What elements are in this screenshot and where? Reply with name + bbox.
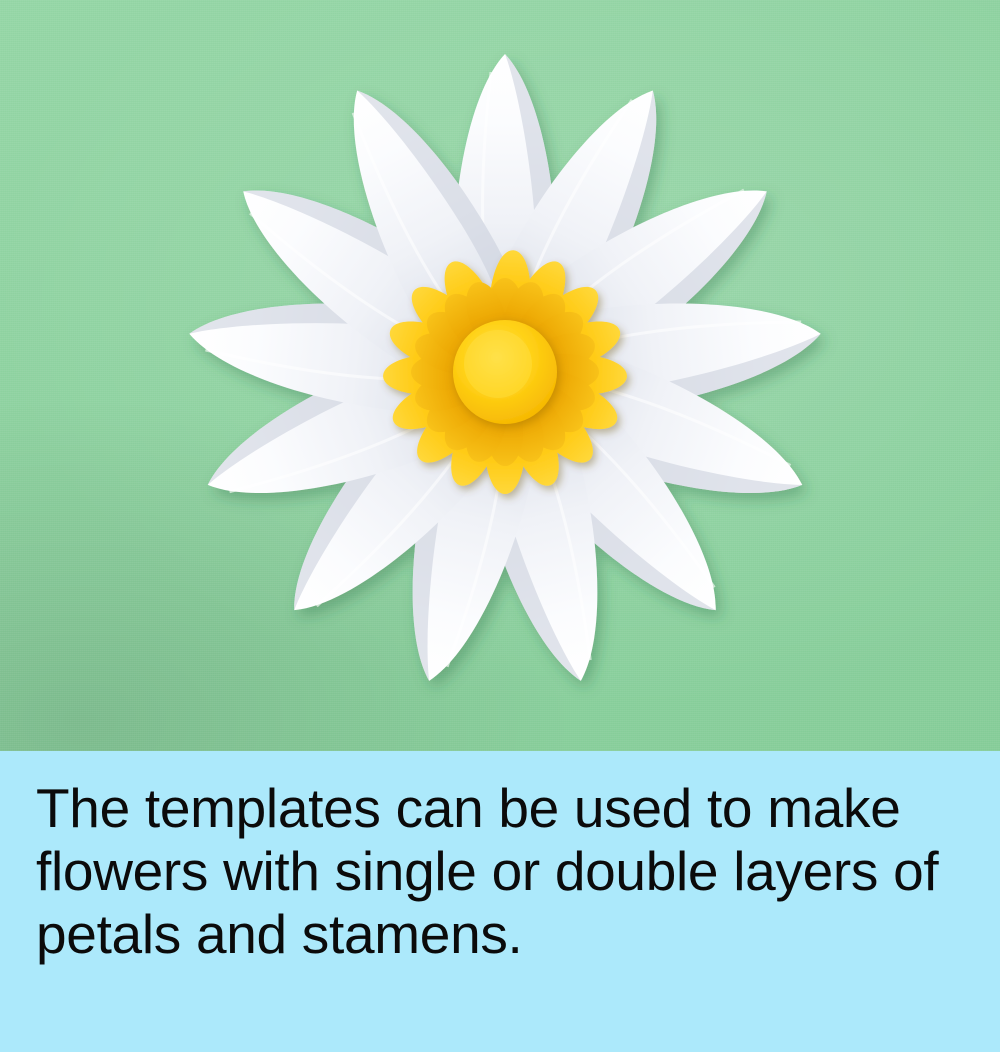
page-root: The templates can be used to make flower… [0,0,1000,1052]
paper-daisy-flower [0,0,1000,751]
flower-photo [0,0,1000,751]
caption-text: The templates can be used to make flower… [36,777,966,966]
flower-center-disc [453,320,557,424]
caption-bar: The templates can be used to make flower… [0,751,1000,1052]
